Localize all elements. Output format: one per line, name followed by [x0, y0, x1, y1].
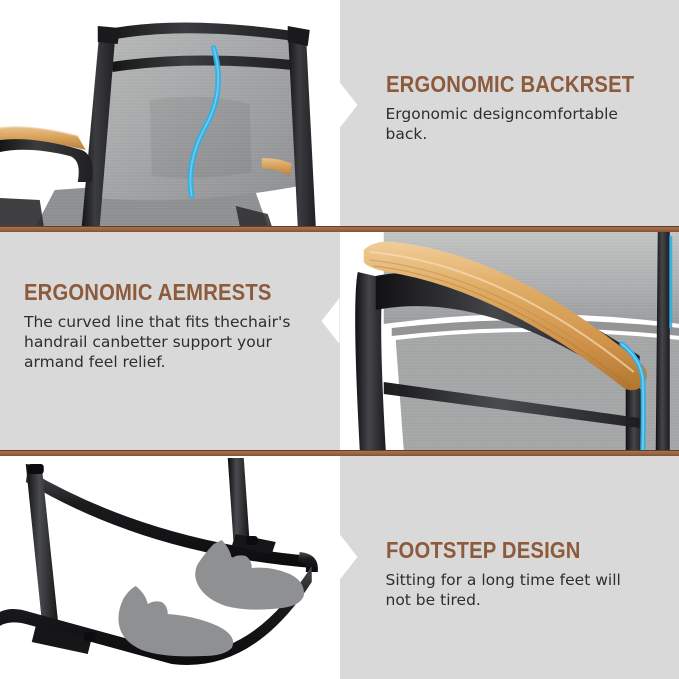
footstep-text-panel: FOOTSTEP DESIGN Sitting for a long time … — [340, 456, 679, 679]
feature-row-footstep: FOOTSTEP DESIGN Sitting for a long time … — [0, 456, 679, 679]
feature-row-backrest: ERGONOMIC BACKRSET Ergonomic designcomfo… — [0, 0, 679, 226]
footstep-body-line-1: Sitting for a long time feet will — [386, 571, 650, 591]
backrest-body: Ergonomic designcomfortable back. — [386, 105, 650, 145]
chair-armrest-photo — [340, 232, 679, 450]
chair-footrest-photo — [0, 456, 340, 679]
section-divider-2 — [0, 450, 679, 456]
infographic-canvas: ERGONOMIC BACKRSET Ergonomic designcomfo… — [0, 0, 679, 679]
footstep-heading: FOOTSTEP DESIGN — [386, 538, 618, 562]
backrest-heading: ERGONOMIC BACKRSET — [386, 72, 618, 96]
armrests-body-line-2: handrail canbetter support your — [24, 333, 294, 353]
footstep-body-line-2: not be tired. — [386, 591, 650, 611]
armrests-text-panel: ERGONOMIC AEMRESTS The curved line that … — [0, 232, 340, 450]
armrests-body-line-1: The curved line that fits thechair's — [24, 313, 294, 333]
armrests-heading: ERGONOMIC AEMRESTS — [24, 280, 261, 304]
armrests-body-line-3: armand feel relief. — [24, 353, 294, 373]
chair-backrest-photo — [0, 0, 340, 226]
backrest-text-panel: ERGONOMIC BACKRSET Ergonomic designcomfo… — [340, 0, 679, 226]
section-divider-1 — [0, 226, 679, 232]
feature-row-armrests: ERGONOMIC AEMRESTS The curved line that … — [0, 232, 679, 450]
